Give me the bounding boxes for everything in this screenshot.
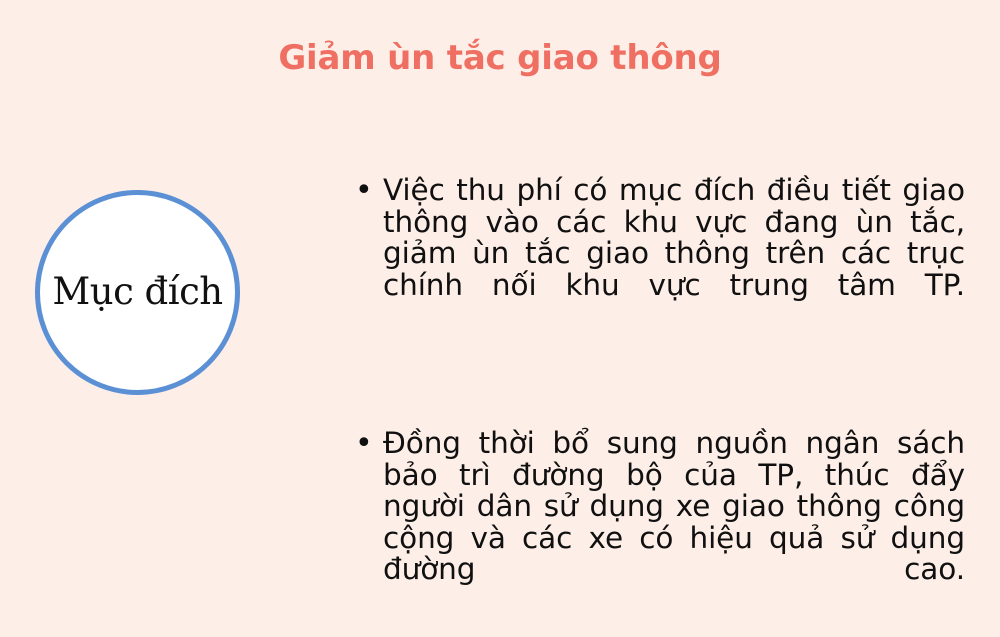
badge-label: Mục đích	[52, 273, 222, 310]
bullet-dot-icon: •	[350, 175, 383, 207]
list-item: • Việc thu phí có mục đích điều tiết gia…	[350, 175, 965, 333]
page-title: Giảm ùn tắc giao thông	[0, 36, 1000, 80]
bullet-text-purpose: Việc thu phí có mục đích điều tiết giao …	[383, 175, 965, 333]
bullet-dot-icon: •	[350, 428, 383, 460]
slide-canvas: Giảm ùn tắc giao thông Mục đích • Việc t…	[0, 0, 1000, 637]
list-item: • Đồng thời bổ sung nguồn ngân sách bảo …	[350, 428, 965, 617]
bullet-text-budget: Đồng thời bổ sung nguồn ngân sách bảo tr…	[383, 428, 965, 617]
mucdich-badge-circle: Mục đích	[35, 190, 240, 395]
